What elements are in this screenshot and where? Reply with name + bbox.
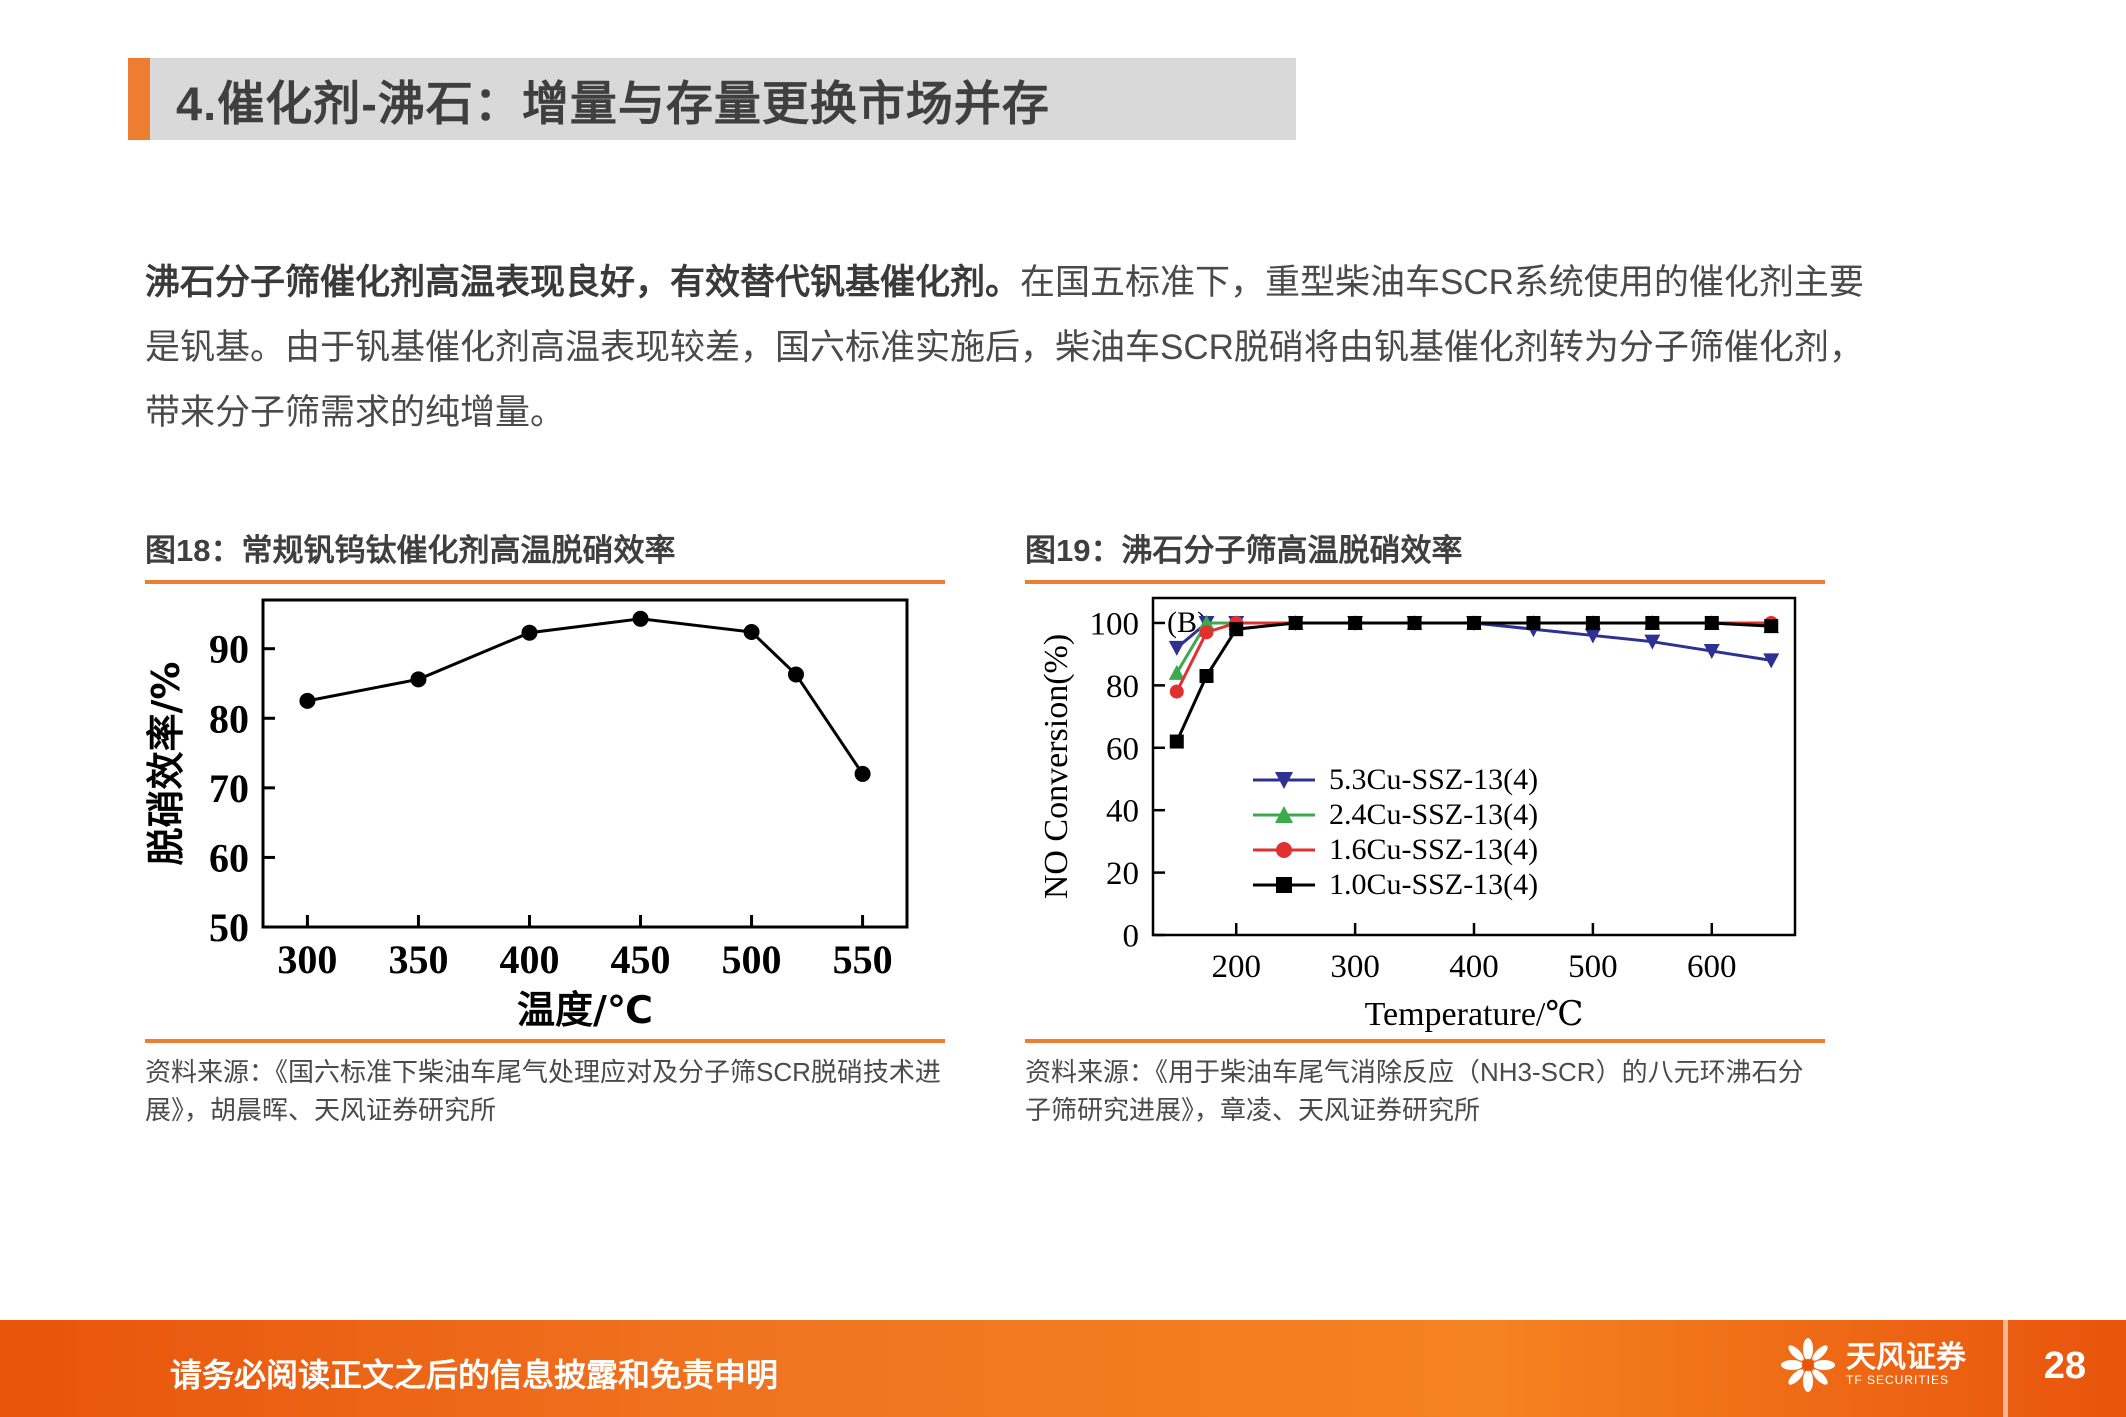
footer-disclaimer: 请务必阅读正文之后的信息披露和免责申明 xyxy=(170,1350,778,1396)
y-tick-label: 90 xyxy=(209,627,249,672)
figure-19-caption: 图19：沸石分子筛高温脱硝效率 xyxy=(1025,525,1825,580)
data-point-marker xyxy=(1170,735,1184,749)
data-point-marker xyxy=(1408,616,1422,630)
data-point-marker xyxy=(1276,877,1292,893)
data-point-marker xyxy=(633,611,649,627)
page-title: 4.催化剂-沸石：增量与存量更换市场并存 xyxy=(176,65,1050,134)
series-line xyxy=(1177,623,1771,692)
series-line xyxy=(1177,623,1771,742)
x-tick-label: 300 xyxy=(1330,949,1380,985)
data-point-marker xyxy=(1645,616,1659,630)
brand-name-en: TF SECURITIES xyxy=(1846,1373,1966,1387)
x-tick-label: 450 xyxy=(611,937,671,982)
legend-label: 1.0Cu-SSZ-13(4) xyxy=(1329,868,1538,901)
x-axis-title: Temperature/℃ xyxy=(1365,996,1584,1033)
y-tick-label: 0 xyxy=(1123,919,1140,955)
data-point-marker xyxy=(1764,619,1778,633)
body-paragraph-lead: 沸石分子筛催化剂高温表现良好，有效替代钒基催化剂。 xyxy=(145,263,1020,302)
data-point-marker xyxy=(299,693,315,709)
data-point-marker xyxy=(1526,616,1540,630)
data-point-marker xyxy=(1200,625,1214,639)
slide-title-block: 4.催化剂-沸石：增量与存量更换市场并存 xyxy=(128,58,1296,140)
data-point-marker xyxy=(1229,622,1243,636)
chart-zeolite-no-conversion: 200300400500600020406080100Temperature/℃… xyxy=(1025,584,1825,1039)
figure-19: 图19：沸石分子筛高温脱硝效率 200300400500600020406080… xyxy=(1025,525,1825,1129)
y-tick-label: 80 xyxy=(1106,669,1139,705)
y-tick-label: 60 xyxy=(209,835,249,880)
chart-vwt-efficiency: 3003504004505005505060708090温度/℃脱硝效率/% xyxy=(145,584,945,1039)
chart-zeolite-no-conversion-svg: 200300400500600020406080100Temperature/℃… xyxy=(1025,584,1825,1039)
y-tick-label: 20 xyxy=(1106,856,1139,892)
x-axis-title: 温度/℃ xyxy=(517,988,653,1032)
data-point-marker xyxy=(1586,616,1600,630)
y-tick-label: 60 xyxy=(1106,731,1139,767)
y-axis-title: NO Conversion(%) xyxy=(1038,634,1075,899)
y-tick-label: 100 xyxy=(1090,607,1140,643)
brand-logo: 天风证券 TF SECURITIES xyxy=(1780,1337,1966,1393)
page-number: 28 xyxy=(2044,1345,2086,1388)
x-tick-label: 400 xyxy=(1449,949,1499,985)
data-point-marker xyxy=(744,624,760,640)
figure-19-source: 资料来源：《用于柴油车尾气消除反应（NH3-SCR）的八元环沸石分子筛研究进展》… xyxy=(1025,1043,1825,1129)
data-point-marker xyxy=(788,666,804,682)
y-tick-label: 50 xyxy=(209,905,249,950)
legend-label: 2.4Cu-SSZ-13(4) xyxy=(1329,798,1538,831)
page-footer: 请务必阅读正文之后的信息披露和免责申明 天风证券 TF SECURITIES xyxy=(0,1317,2126,1417)
footer-top-divider xyxy=(0,1317,2126,1320)
figure-19-chart-area: 200300400500600020406080100Temperature/℃… xyxy=(1025,584,1825,1039)
y-axis-title: 脱硝效率/% xyxy=(145,662,188,866)
figure-18-chart-area: 3003504004505005505060708090温度/℃脱硝效率/% xyxy=(145,584,945,1039)
x-tick-label: 200 xyxy=(1211,949,1261,985)
series-group xyxy=(299,611,870,782)
data-point-marker xyxy=(1289,616,1303,630)
y-tick-label: 80 xyxy=(209,696,249,741)
figure-18-caption: 图18：常规钒钨钛催化剂高温脱硝效率 xyxy=(145,525,945,580)
x-tick-label: 350 xyxy=(388,937,448,982)
x-tick-label: 550 xyxy=(833,937,893,982)
x-tick-label: 500 xyxy=(722,937,782,982)
series-line xyxy=(307,619,862,774)
data-point-marker xyxy=(1170,685,1184,699)
footer-divider xyxy=(2003,1317,2008,1417)
plot-frame xyxy=(263,600,907,927)
figure-18-source: 资料来源：《国六标准下柴油车尾气处理应对及分子筛SCR脱硝技术进展》，胡晨晖、天… xyxy=(145,1043,945,1129)
data-point-marker xyxy=(1467,616,1481,630)
x-tick-label: 300 xyxy=(277,937,337,982)
brand-name-cn: 天风证券 xyxy=(1846,1343,1966,1373)
series-group xyxy=(1169,615,1779,749)
data-point-marker xyxy=(410,671,426,687)
x-tick-label: 400 xyxy=(499,937,559,982)
data-point-marker xyxy=(1200,669,1214,683)
legend-label: 5.3Cu-SSZ-13(4) xyxy=(1329,763,1538,796)
data-point-marker xyxy=(1276,842,1292,858)
data-point-marker xyxy=(521,625,537,641)
data-point-marker xyxy=(1705,616,1719,630)
chart-vwt-efficiency-svg: 3003504004505005505060708090温度/℃脱硝效率/% xyxy=(145,584,945,1039)
title-accent-bar xyxy=(128,58,150,140)
x-tick-label: 500 xyxy=(1568,949,1618,985)
title-background: 4.催化剂-沸石：增量与存量更换市场并存 xyxy=(150,58,1296,140)
legend-label: 1.6Cu-SSZ-13(4) xyxy=(1329,833,1538,866)
x-tick-label: 600 xyxy=(1687,949,1737,985)
figure-18: 图18：常规钒钨钛催化剂高温脱硝效率 300350400450500550506… xyxy=(145,525,945,1129)
data-point-marker xyxy=(1348,616,1362,630)
tf-flower-icon xyxy=(1780,1337,1836,1393)
y-tick-label: 40 xyxy=(1106,794,1139,830)
y-tick-label: 70 xyxy=(209,766,249,811)
body-paragraph: 沸石分子筛催化剂高温表现良好，有效替代钒基催化剂。在国五标准下，重型柴油车SCR… xyxy=(145,250,1885,445)
data-point-marker xyxy=(1169,641,1185,656)
data-point-marker xyxy=(855,766,871,782)
